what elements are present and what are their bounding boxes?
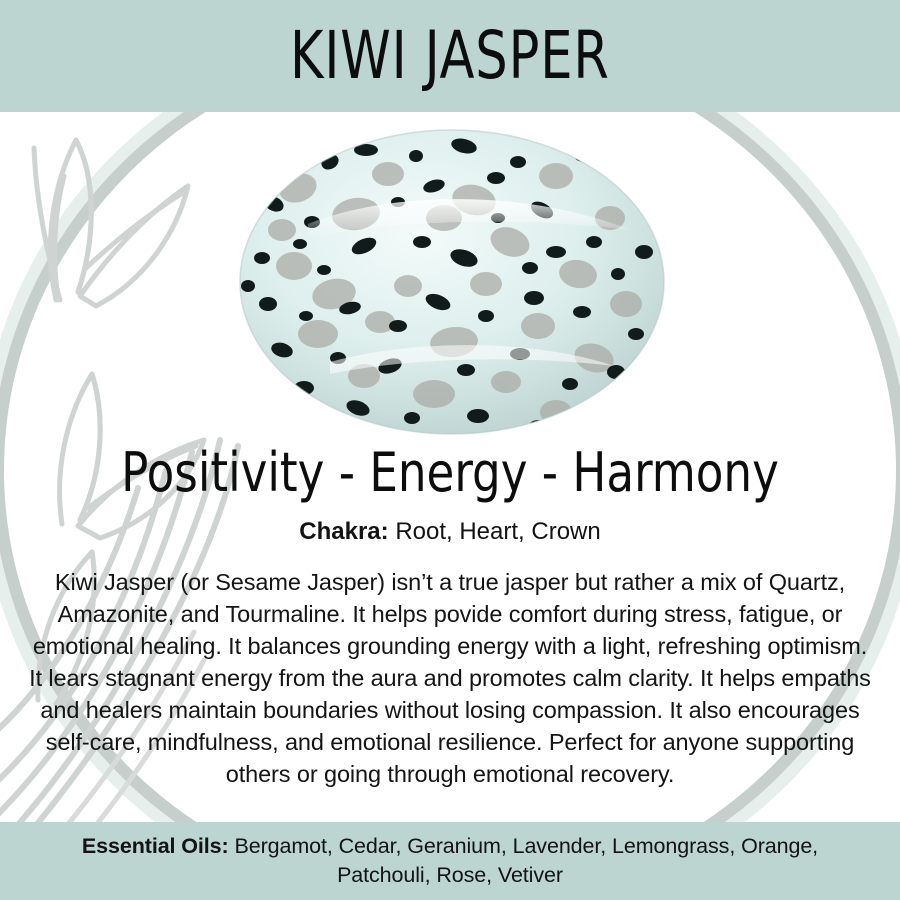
footer-band: Essential Oils: Bergamot, Cedar, Geraniu… xyxy=(0,822,900,900)
essential-oils-value: Bergamot, Cedar, Geranium, Lavender, Lem… xyxy=(234,834,818,887)
chakra-label: Chakra: xyxy=(299,518,388,545)
description-block: Kiwi Jasper (or Sesame Jasper) isn’t a t… xyxy=(0,567,900,791)
essential-oils-label: Essential Oils: xyxy=(82,834,229,858)
page-title: KIWI JASPER xyxy=(290,23,610,89)
gemstone-image xyxy=(238,126,666,438)
kiwi-jasper-illustration xyxy=(238,126,666,438)
crystal-info-card: KIWI JASPER xyxy=(0,0,900,900)
chakra-line: Chakra: Root, Heart, Crown xyxy=(0,518,900,547)
main-content: Positivity - Energy - Harmony Chakra: Ro… xyxy=(0,440,900,791)
chakra-value: Root, Heart, Crown xyxy=(395,518,600,545)
essential-oils-line: Essential Oils: Bergamot, Cedar, Geraniu… xyxy=(0,832,900,889)
description-text: Kiwi Jasper (or Sesame Jasper) isn’t a t… xyxy=(26,567,874,791)
header-band: KIWI JASPER xyxy=(0,0,900,112)
tagline: Positivity - Energy - Harmony xyxy=(32,444,869,502)
